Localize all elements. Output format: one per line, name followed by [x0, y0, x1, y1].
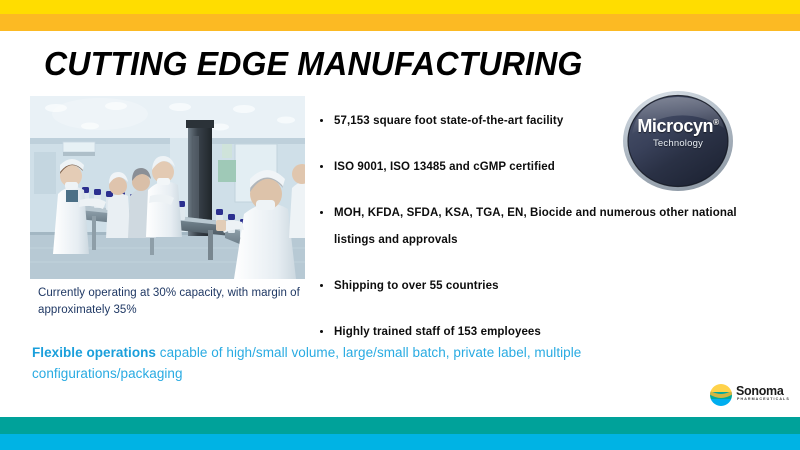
list-item: MOH, KFDA, SFDA, KSA, TGA, EN, Biocide a…	[318, 200, 748, 254]
list-item-label: 57,153 square foot state-of-the-art faci…	[334, 115, 563, 127]
sonoma-mark-icon	[709, 383, 733, 407]
bullet-dot-icon	[320, 211, 323, 214]
microcyn-name: Microcyn	[637, 116, 713, 136]
bullet-dot-icon	[320, 330, 323, 333]
bullet-dot-icon	[320, 284, 323, 287]
sonoma-subtitle: PHARMACEUTICALS	[737, 397, 790, 401]
list-item-label: ISO 9001, ISO 13485 and cGMP certified	[334, 161, 555, 173]
sonoma-wordmark: Sonoma	[736, 384, 784, 398]
registered-trademark-icon: ®	[713, 118, 719, 127]
microcyn-logo: Microcyn® Technology	[622, 90, 734, 196]
list-item-label: Shipping to over 55 countries	[334, 280, 499, 292]
list-item-label: MOH, KFDA, SFDA, KSA, TGA, EN, Biocide a…	[334, 207, 737, 246]
microcyn-wordmark: Microcyn®	[622, 116, 734, 137]
capacity-note: Currently operating at 30% capacity, wit…	[38, 285, 313, 319]
flexible-operations-lead: Flexible operations	[32, 345, 156, 360]
list-item: Shipping to over 55 countries	[318, 273, 748, 300]
microcyn-tagline: Technology	[622, 138, 734, 149]
bottom-cyan-band	[0, 434, 800, 450]
top-yellow-band	[0, 0, 800, 14]
sonoma-logo: Sonoma PHARMACEUTICALS	[709, 382, 789, 408]
top-amber-band	[0, 14, 800, 31]
list-item-label: Highly trained staff of 153 employees	[334, 326, 541, 338]
bullet-dot-icon	[320, 165, 323, 168]
flexible-operations-note: Flexible operations capable of high/smal…	[32, 342, 692, 384]
page-title: CUTTING EDGE MANUFACTURING	[44, 45, 665, 83]
bottom-teal-band	[0, 417, 800, 434]
manufacturing-photo	[30, 96, 305, 279]
bullet-dot-icon	[320, 119, 323, 122]
cleanroom-illustration	[30, 96, 305, 279]
